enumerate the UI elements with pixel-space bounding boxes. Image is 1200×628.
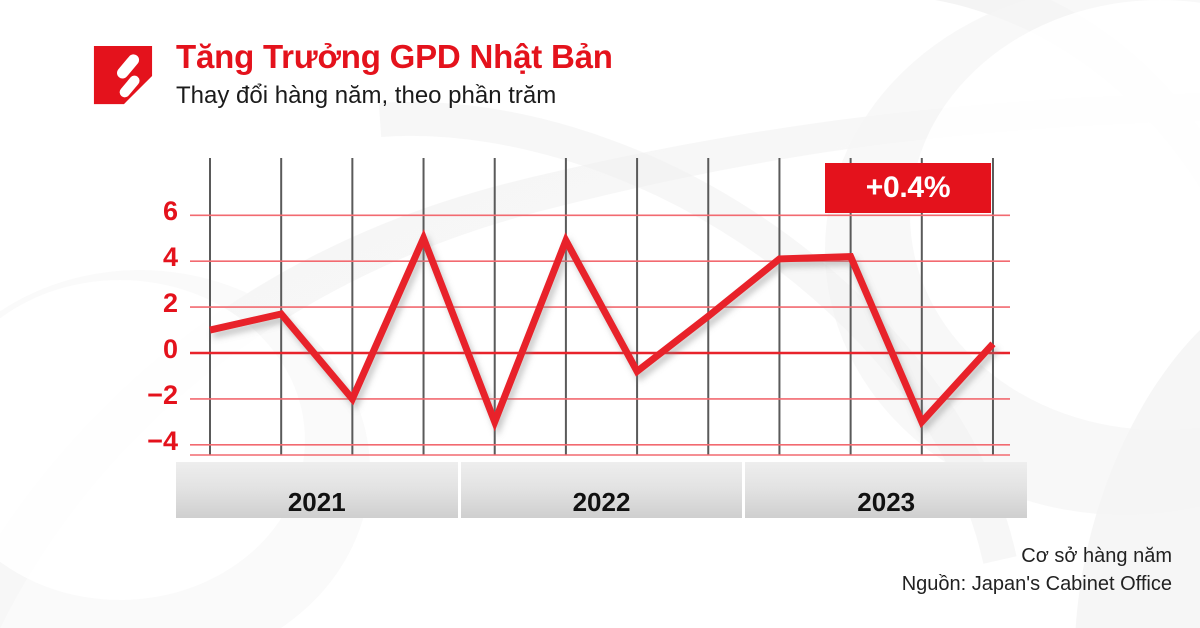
y-axis-tick-label: 6 [118, 196, 178, 227]
year-label: 2023 [745, 487, 1027, 517]
y-axis-tick-label: 2 [118, 288, 178, 319]
callout-label: +0.4% [866, 171, 950, 205]
year-label: 2021 [176, 487, 458, 517]
gdp-growth-line [210, 238, 993, 422]
year-label: 2022 [461, 487, 743, 517]
y-axis-tick-label: 0 [118, 334, 178, 365]
footer-source: Nguồn: Japan's Cabinet Office [902, 570, 1172, 598]
chart-canvas [0, 0, 1200, 628]
chart-area: 6420−2−4 Q1Q2Q3Q4Q1Q2Q3Q4Q1Q2Q3Q4 202120… [0, 0, 1200, 628]
y-axis-tick-label: −2 [118, 380, 178, 411]
y-axis-tick-label: 4 [118, 242, 178, 273]
footer-basis: Cơ sở hàng năm [902, 542, 1172, 570]
value-callout-badge: +0.4% [825, 163, 991, 213]
footer-notes: Cơ sở hàng năm Nguồn: Japan's Cabinet Of… [902, 542, 1172, 599]
y-axis-tick-label: −4 [118, 426, 178, 457]
